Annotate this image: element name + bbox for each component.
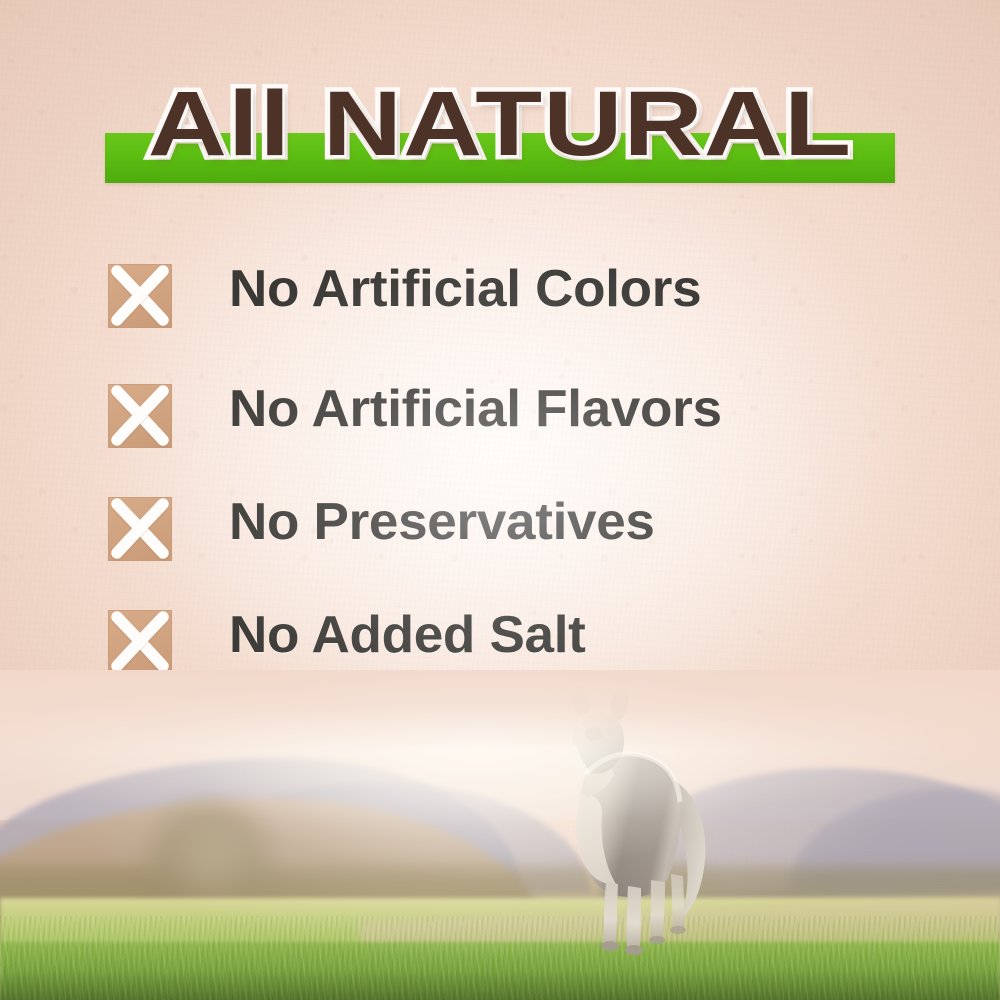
x-mark-icon xyxy=(108,610,172,674)
claim-label: No Added Salt xyxy=(229,602,586,668)
claim-label: No Preservatives xyxy=(229,489,655,555)
page-title: All NATURAL xyxy=(0,72,1000,176)
claim-label: No Artificial Flavors xyxy=(229,376,722,442)
claim-row: No Artificial Flavors xyxy=(106,372,926,485)
x-mark-icon xyxy=(108,384,172,448)
claim-row: No Preservatives xyxy=(106,485,926,598)
foreground-shadow xyxy=(0,970,1000,1000)
claim-row: No Artificial Colors xyxy=(106,252,926,372)
dog-photo-subject xyxy=(520,682,730,982)
x-mark-icon xyxy=(108,264,172,328)
claim-label: No Artificial Colors xyxy=(229,256,701,322)
x-mark-icon xyxy=(108,497,172,561)
all-natural-claims-panel: All NATURAL No Artificial Colors No Arti… xyxy=(0,0,1000,1000)
title-block: All NATURAL xyxy=(0,72,1000,190)
claims-list: No Artificial Colors No Artificial Flavo… xyxy=(106,252,926,711)
landscape-photo xyxy=(0,670,1000,1000)
